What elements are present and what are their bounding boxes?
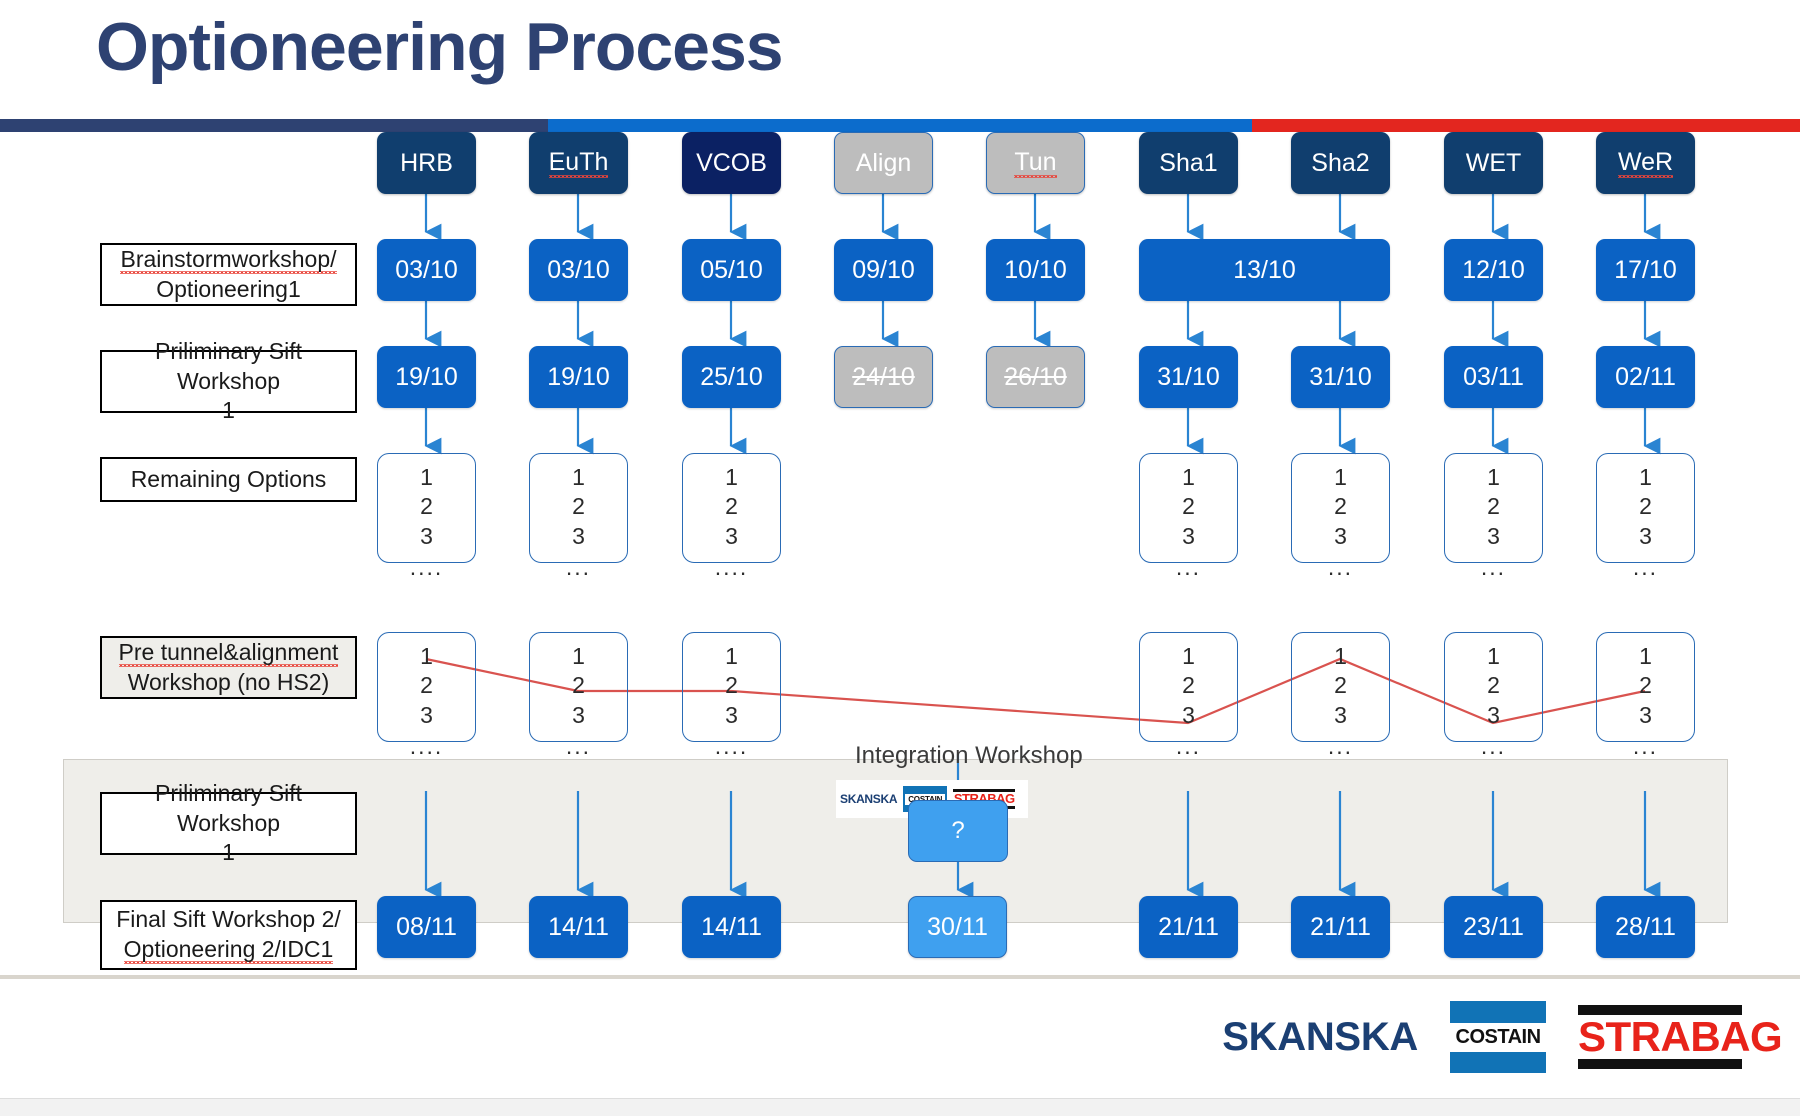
cell-remaining-sha2[interactable]: 1 2 3 ... <box>1291 453 1390 563</box>
column-header-tun-label: Tun <box>1014 148 1056 179</box>
cell-prelim1-align[interactable]: 24/10 <box>834 346 933 408</box>
opt-ellipsis: ... <box>530 553 627 582</box>
footer-divider <box>0 975 1800 979</box>
opt-item: 1 <box>683 463 780 492</box>
optioneering-diagram: Brainstormworkshop/ Optioneering1 Prilim… <box>0 132 1800 972</box>
column-header-align[interactable]: Align <box>834 132 933 194</box>
header-rule-bar <box>0 119 1800 132</box>
cell-final-integration-label: 30/11 <box>927 913 988 942</box>
opt-item: 1 <box>1445 463 1542 492</box>
cell-final-hrb-label: 08/11 <box>396 913 457 942</box>
opt-item: 3 <box>1140 701 1237 730</box>
opt-ellipsis: ... <box>1445 553 1542 582</box>
opt-ellipsis: ... <box>530 732 627 761</box>
cell-brainstorm-hrb[interactable]: 03/10 <box>377 239 476 301</box>
row-label-pre-tunnel-line1: Pre tunnel&alignment <box>119 639 339 667</box>
integration-workshop-node[interactable]: ? <box>908 800 1008 862</box>
skanska-logo: SKANSKA <box>1222 1015 1418 1060</box>
cell-prelim1-sha1-label: 31/10 <box>1157 363 1220 392</box>
opt-ellipsis: ... <box>1597 732 1694 761</box>
opt-ellipsis: .... <box>683 553 780 582</box>
opt-item: 2 <box>378 492 475 521</box>
rule-segment-red <box>1252 119 1800 132</box>
row-label-remaining-options-line1: Remaining Options <box>131 465 327 495</box>
opt-item: 3 <box>1597 522 1694 551</box>
cell-final-integration[interactable]: 30/11 <box>908 896 1007 958</box>
column-header-align-label: Align <box>856 149 912 178</box>
cell-brainstorm-align[interactable]: 09/10 <box>834 239 933 301</box>
cell-brainstorm-wer[interactable]: 17/10 <box>1596 239 1695 301</box>
window-bottom-bar <box>0 1098 1800 1116</box>
column-header-sha2-label: Sha2 <box>1311 149 1369 178</box>
costain-logo-text: COSTAIN <box>1448 1023 1549 1052</box>
cell-prelim1-euth[interactable]: 19/10 <box>529 346 628 408</box>
row-label-pre-tunnel-line2: Workshop (no HS2) <box>128 669 330 695</box>
cell-brainstorm-tun-label: 10/10 <box>1004 256 1067 285</box>
row-label-prelim-sift-2: Priliminary Sift Workshop 1 <box>100 792 357 855</box>
opt-item: 2 <box>1292 492 1389 521</box>
opt-item: 2 <box>1292 671 1389 700</box>
cell-brainstorm-align-label: 09/10 <box>852 256 915 285</box>
column-header-wet-label: WET <box>1466 149 1522 178</box>
opt-item: 2 <box>530 492 627 521</box>
opt-item: 3 <box>683 522 780 551</box>
strabag-logo: STRABAG <box>1578 1002 1742 1072</box>
cell-prelim1-hrb[interactable]: 19/10 <box>377 346 476 408</box>
cell-brainstorm-tun[interactable]: 10/10 <box>986 239 1085 301</box>
opt-item: 1 <box>1597 463 1694 492</box>
rule-segment-navy <box>0 119 548 132</box>
opt-item: 1 <box>1140 463 1237 492</box>
opt-item: 2 <box>378 671 475 700</box>
opt-ellipsis: ... <box>1140 732 1237 761</box>
row-label-prelim-sift-2-line1: Priliminary Sift Workshop <box>155 780 302 836</box>
row-label-final-sift: Final Sift Workshop 2/ Optioneering 2/ID… <box>100 900 357 970</box>
column-header-euth[interactable]: EuTh <box>529 132 628 194</box>
opt-item: 2 <box>530 671 627 700</box>
opt-item: 1 <box>683 642 780 671</box>
opt-item: 2 <box>1445 492 1542 521</box>
row-label-prelim-sift-1-line2: 1 <box>222 397 235 423</box>
cell-remaining-wer[interactable]: 1 2 3 ... <box>1596 453 1695 563</box>
column-header-sha2[interactable]: Sha2 <box>1291 132 1390 194</box>
cell-prelim1-sha2-label: 31/10 <box>1309 363 1372 392</box>
column-header-vcob-label: VCOB <box>696 149 767 178</box>
cell-pretunnel-vcob[interactable]: 1 2 3 .... <box>682 632 781 742</box>
integration-workshop-caption: Integration Workshop <box>855 742 1083 770</box>
opt-item: 1 <box>1292 463 1389 492</box>
row-label-prelim-sift-1-line1: Priliminary Sift Workshop <box>155 338 302 394</box>
opt-item: 1 <box>378 463 475 492</box>
cell-pretunnel-sha2[interactable]: 1 2 3 ... <box>1291 632 1390 742</box>
column-header-euth-label: EuTh <box>549 148 609 179</box>
cell-final-euth-label: 14/11 <box>548 913 609 942</box>
integration-workshop-node-label: ? <box>951 817 964 845</box>
cell-pretunnel-wer[interactable]: 1 2 3 ... <box>1596 632 1695 742</box>
opt-item: 2 <box>1597 492 1694 521</box>
cell-brainstorm-hrb-label: 03/10 <box>395 256 458 285</box>
cell-prelim1-align-label: 24/10 <box>852 363 915 392</box>
strabag-logo-text: STRABAG <box>1578 1015 1742 1059</box>
cell-final-vcob[interactable]: 14/11 <box>682 896 781 958</box>
opt-ellipsis: ... <box>1140 553 1237 582</box>
cell-prelim1-sha1[interactable]: 31/10 <box>1139 346 1238 408</box>
opt-item: 2 <box>1597 671 1694 700</box>
opt-item: 3 <box>1292 701 1389 730</box>
cell-brainstorm-wer-label: 17/10 <box>1614 256 1677 285</box>
cell-prelim1-vcob-label: 25/10 <box>700 363 763 392</box>
opt-item: 1 <box>530 463 627 492</box>
row-label-prelim-sift-2-line2: 1 <box>222 839 235 865</box>
column-header-sha1-label: Sha1 <box>1159 149 1217 178</box>
opt-item: 2 <box>1140 671 1237 700</box>
cell-final-sha1-label: 21/11 <box>1158 913 1219 942</box>
strabag-bar-bottom <box>1578 1059 1742 1069</box>
cell-prelim1-tun-label: 26/10 <box>1004 363 1067 392</box>
opt-item: 3 <box>1140 522 1237 551</box>
cell-brainstorm-euth[interactable]: 03/10 <box>529 239 628 301</box>
column-header-sha1[interactable]: Sha1 <box>1139 132 1238 194</box>
opt-ellipsis: ... <box>1292 553 1389 582</box>
cell-remaining-wet[interactable]: 1 2 3 ... <box>1444 453 1543 563</box>
cell-final-sha2[interactable]: 21/11 <box>1291 896 1390 958</box>
cell-final-hrb[interactable]: 08/11 <box>377 896 476 958</box>
cell-final-wer[interactable]: 28/11 <box>1596 896 1695 958</box>
opt-item: 3 <box>1445 701 1542 730</box>
opt-item: 3 <box>1597 701 1694 730</box>
cell-remaining-hrb[interactable]: 1 2 3 .... <box>377 453 476 563</box>
opt-item: 2 <box>683 492 780 521</box>
cell-pretunnel-wet[interactable]: 1 2 3 ... <box>1444 632 1543 742</box>
opt-item: 1 <box>1140 642 1237 671</box>
partner-logos-footer: SKANSKA COSTAIN STRABAG <box>1222 1000 1742 1074</box>
cell-prelim1-wer-label: 02/11 <box>1615 363 1676 392</box>
column-header-vcob[interactable]: VCOB <box>682 132 781 194</box>
opt-ellipsis: ... <box>1597 553 1694 582</box>
opt-item: 3 <box>1445 522 1542 551</box>
cell-brainstorm-euth-label: 03/10 <box>547 256 610 285</box>
opt-ellipsis: ... <box>1445 732 1542 761</box>
cell-brainstorm-sha1-sha2-merged[interactable]: 13/10 <box>1139 239 1390 301</box>
cell-final-wer-label: 28/11 <box>1615 913 1676 942</box>
cell-prelim1-tun[interactable]: 26/10 <box>986 346 1085 408</box>
cell-final-euth[interactable]: 14/11 <box>529 896 628 958</box>
cell-brainstorm-wet-label: 12/10 <box>1462 256 1525 285</box>
cell-final-vcob-label: 14/11 <box>701 913 762 942</box>
row-label-pre-tunnel: Pre tunnel&alignment Workshop (no HS2) <box>100 636 357 699</box>
cell-pretunnel-euth[interactable]: 1 2 3 ... <box>529 632 628 742</box>
opt-item: 1 <box>1597 642 1694 671</box>
opt-item: 2 <box>1445 671 1542 700</box>
cell-final-wet-label: 23/11 <box>1463 913 1524 942</box>
column-header-tun[interactable]: Tun <box>986 132 1085 194</box>
cell-final-wet[interactable]: 23/11 <box>1444 896 1543 958</box>
row-label-prelim-sift-1: Priliminary Sift Workshop 1 <box>100 350 357 413</box>
cell-prelim1-wer[interactable]: 02/11 <box>1596 346 1695 408</box>
opt-item: 2 <box>683 671 780 700</box>
cell-prelim1-wet-label: 03/11 <box>1463 363 1524 392</box>
cell-pretunnel-sha1[interactable]: 1 2 3 ... <box>1139 632 1238 742</box>
opt-item: 3 <box>378 701 475 730</box>
cell-remaining-sha1[interactable]: 1 2 3 ... <box>1139 453 1238 563</box>
column-header-hrb-label: HRB <box>400 149 453 178</box>
opt-item: 3 <box>1292 522 1389 551</box>
cell-brainstorm-sha-merged-label: 13/10 <box>1233 256 1296 285</box>
opt-item: 1 <box>378 642 475 671</box>
cell-final-sha1[interactable]: 21/11 <box>1139 896 1238 958</box>
opt-item: 3 <box>378 522 475 551</box>
column-header-wer[interactable]: WeR <box>1596 132 1695 194</box>
row-label-brainstorm: Brainstormworkshop/ Optioneering1 <box>100 243 357 306</box>
opt-item: 1 <box>1445 642 1542 671</box>
rule-segment-blue <box>548 119 1252 132</box>
row-label-remaining-options: Remaining Options <box>100 457 357 502</box>
cell-brainstorm-wet[interactable]: 12/10 <box>1444 239 1543 301</box>
skanska-logo-inline: SKANSKA <box>840 792 897 806</box>
cell-prelim1-vcob[interactable]: 25/10 <box>682 346 781 408</box>
cell-remaining-vcob[interactable]: 1 2 3 .... <box>682 453 781 563</box>
opt-item: 2 <box>1140 492 1237 521</box>
opt-ellipsis: .... <box>683 732 780 761</box>
row-label-final-sift-line2: Optioneering 2/IDC1 <box>124 936 334 964</box>
column-header-hrb[interactable]: HRB <box>377 132 476 194</box>
row-label-final-sift-line1: Final Sift Workshop 2/ <box>116 906 341 932</box>
opt-item: 3 <box>530 522 627 551</box>
opt-item: 3 <box>683 701 780 730</box>
page-title: Optioneering Process <box>96 8 783 86</box>
opt-ellipsis: .... <box>378 732 475 761</box>
row-label-brainstorm-line1: Brainstormworkshop/ <box>120 246 336 274</box>
cell-pretunnel-hrb[interactable]: 1 2 3 .... <box>377 632 476 742</box>
opt-ellipsis: .... <box>378 553 475 582</box>
column-header-wet[interactable]: WET <box>1444 132 1543 194</box>
costain-logo: COSTAIN <box>1450 1001 1546 1073</box>
opt-ellipsis: ... <box>1292 732 1389 761</box>
column-header-wer-label: WeR <box>1618 148 1673 179</box>
cell-prelim1-wet[interactable]: 03/11 <box>1444 346 1543 408</box>
opt-item: 3 <box>530 701 627 730</box>
cell-prelim1-hrb-label: 19/10 <box>395 363 458 392</box>
cell-brainstorm-vcob-label: 05/10 <box>700 256 763 285</box>
cell-remaining-euth[interactable]: 1 2 3 ... <box>529 453 628 563</box>
cell-prelim1-sha2[interactable]: 31/10 <box>1291 346 1390 408</box>
opt-item: 1 <box>530 642 627 671</box>
cell-final-sha2-label: 21/11 <box>1310 913 1371 942</box>
row-label-brainstorm-line2: Optioneering1 <box>156 276 301 302</box>
cell-prelim1-euth-label: 19/10 <box>547 363 610 392</box>
opt-item: 1 <box>1292 642 1389 671</box>
cell-brainstorm-vcob[interactable]: 05/10 <box>682 239 781 301</box>
